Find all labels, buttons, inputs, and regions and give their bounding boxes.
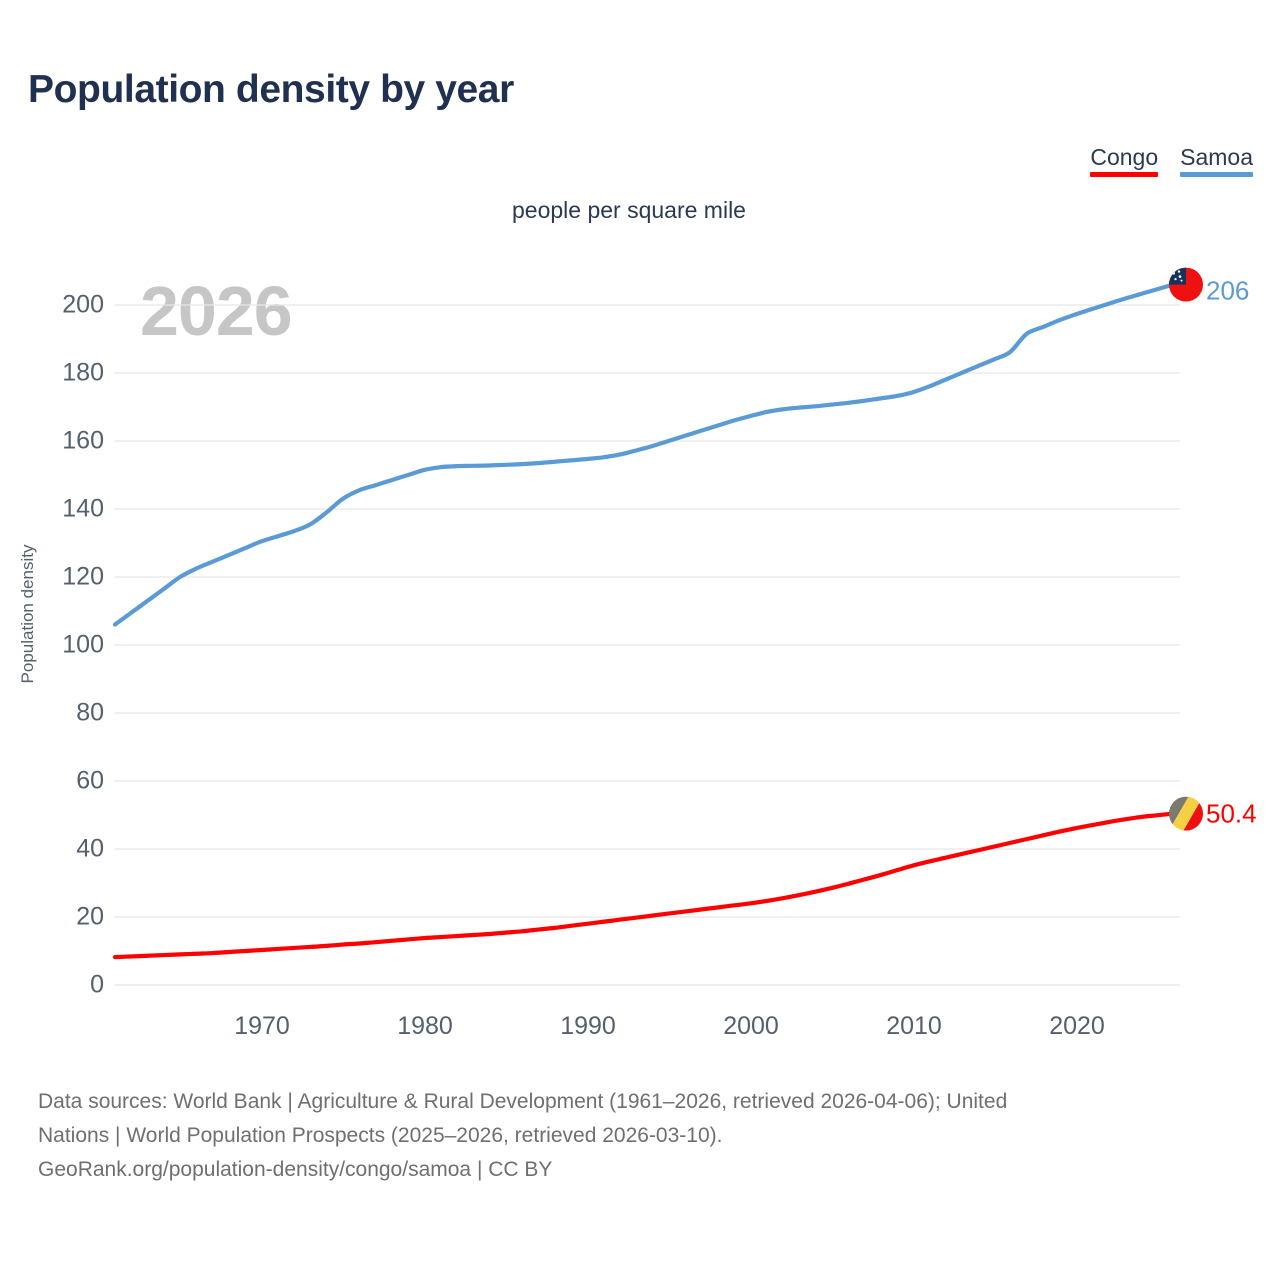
endpoint-value-congo: 50.4 — [1206, 799, 1257, 830]
congo-flag-icon — [1169, 797, 1203, 831]
endpoint-value-samoa: 206 — [1206, 276, 1249, 307]
footer-line-2: Nations | World Population Prospects (20… — [38, 1119, 1263, 1153]
chart-footer: Data sources: World Bank | Agriculture &… — [38, 1085, 1263, 1187]
series-line-congo — [115, 814, 1173, 957]
chart-endpoint-markers — [1169, 268, 1203, 831]
series-line-samoa — [115, 285, 1173, 625]
footer-source-link[interactable]: GeoRank.org/population-density/congo/sam… — [38, 1153, 1263, 1187]
footer-line-1: Data sources: World Bank | Agriculture &… — [38, 1085, 1263, 1119]
chart-gridlines — [115, 305, 1180, 985]
chart-series-lines — [115, 285, 1173, 958]
samoa-flag-icon — [1169, 268, 1203, 302]
